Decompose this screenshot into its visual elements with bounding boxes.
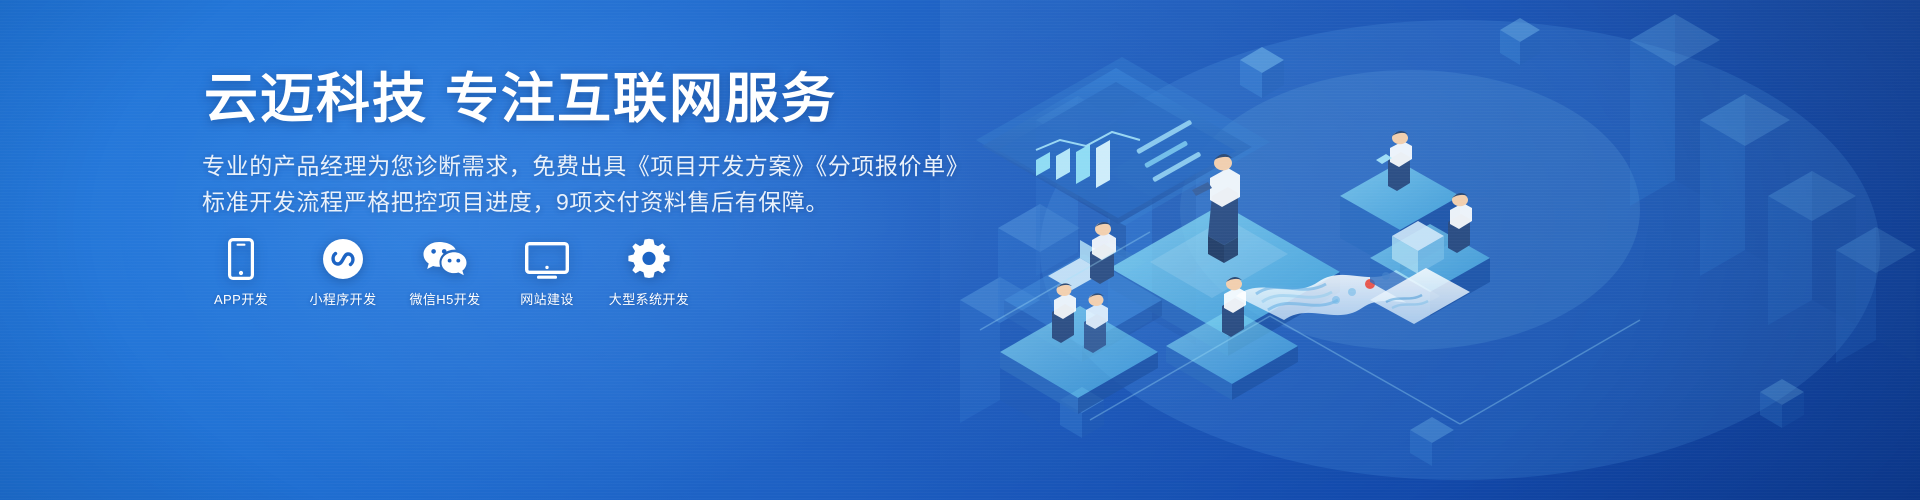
service-item-wechat-h5[interactable]: 微信H5开发 — [406, 236, 484, 308]
service-item-website[interactable]: 网站建设 — [508, 236, 586, 308]
service-item-miniprogram[interactable]: 小程序开发 — [304, 236, 382, 308]
promo-banner: 云迈科技 专注互联网服务 专业的产品经理为您诊断需求，免费出具《项目开发方案》《… — [0, 0, 1920, 500]
illustration-isometric-scene — [940, 0, 1920, 500]
banner-subtitle: 专业的产品经理为您诊断需求，免费出具《项目开发方案》《分项报价单》 标准开发流程… — [202, 148, 969, 220]
service-item-app[interactable]: APP开发 — [202, 236, 280, 308]
service-label: 网站建设 — [520, 292, 574, 308]
gear-icon — [628, 236, 670, 280]
service-label: 大型系统开发 — [609, 292, 689, 308]
service-label: 微信H5开发 — [409, 292, 480, 308]
page-title: 云迈科技 专注互联网服务 — [204, 68, 837, 130]
service-item-large-system[interactable]: 大型系统开发 — [610, 236, 688, 308]
subtitle-line-1: 专业的产品经理为您诊断需求，免费出具《项目开发方案》《分项报价单》 — [202, 148, 969, 184]
mini-program-icon — [322, 236, 364, 280]
service-label: 小程序开发 — [309, 292, 376, 308]
service-list: APP开发 小程序开发 — [202, 236, 688, 308]
service-label: APP开发 — [214, 292, 268, 308]
wechat-icon — [422, 236, 468, 280]
banner-copy: 云迈科技 专注互联网服务 专业的产品经理为您诊断需求，免费出具《项目开发方案》《… — [200, 0, 960, 500]
monitor-icon — [525, 236, 569, 280]
mobile-phone-icon — [228, 236, 254, 280]
subtitle-line-2: 标准开发流程严格把控项目进度，9项交付资料售后有保障。 — [202, 184, 969, 220]
